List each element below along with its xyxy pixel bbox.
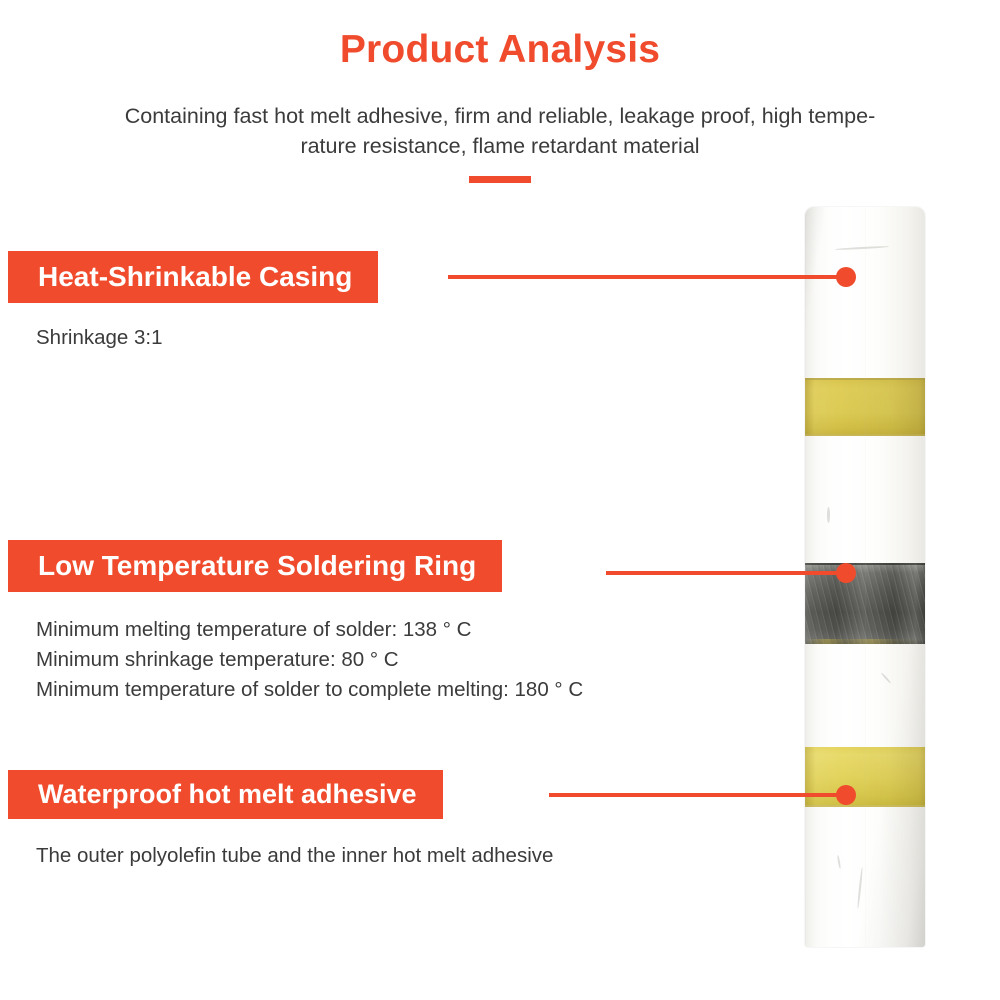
subtitle-line-1: Containing fast hot melt adhesive, firm … xyxy=(125,104,876,128)
tube-scratch xyxy=(857,867,863,909)
hot-melt-adhesive-band-bottom xyxy=(805,747,925,807)
heat-shrink-casing xyxy=(805,207,925,947)
subtitle-line-2: rature resistance, flame retardant mater… xyxy=(300,134,699,158)
callout-description-line: The outer polyolefin tube and the inner … xyxy=(36,841,553,871)
callout-description-2: Minimum melting temperature of solder: 1… xyxy=(36,615,583,705)
hot-melt-adhesive-band-top xyxy=(805,378,925,436)
callout-dot-2 xyxy=(836,563,856,583)
tube-scratch xyxy=(835,246,889,251)
callout-description-3: The outer polyolefin tube and the inner … xyxy=(36,841,553,871)
callout-dot-3 xyxy=(836,785,856,805)
callout-description-line: Minimum temperature of solder to complet… xyxy=(36,675,583,705)
callout-connector-line-1 xyxy=(448,275,846,279)
callout-connector-line-2 xyxy=(606,571,846,575)
callout-label-text: Low Temperature Soldering Ring xyxy=(38,550,476,582)
tube-scratch xyxy=(881,672,892,684)
callout-label-low-temperature-soldering-ring[interactable]: Low Temperature Soldering Ring xyxy=(8,540,502,592)
title-divider xyxy=(469,176,531,183)
page-title: Product Analysis xyxy=(0,28,1000,72)
tube-scratch xyxy=(837,855,841,869)
callout-description-1: Shrinkage 3:1 xyxy=(36,323,163,353)
tube-scratch xyxy=(827,507,830,523)
callout-connector-line-3 xyxy=(549,793,846,797)
infographic-canvas: Product Analysis Containing fast hot mel… xyxy=(0,0,1000,1000)
callout-description-line: Shrinkage 3:1 xyxy=(36,323,163,353)
product-image xyxy=(795,200,940,960)
callout-dot-1 xyxy=(836,267,856,287)
callout-label-text: Waterproof hot melt adhesive xyxy=(38,779,417,810)
callout-label-text: Heat-Shrinkable Casing xyxy=(38,261,352,293)
callout-description-line: Minimum melting temperature of solder: 1… xyxy=(36,615,583,645)
callout-description-line: Minimum shrinkage temperature: 80 ° C xyxy=(36,645,583,675)
callout-label-waterproof-hot-melt-adhesive[interactable]: Waterproof hot melt adhesive xyxy=(8,770,443,819)
page-subtitle: Containing fast hot melt adhesive, firm … xyxy=(120,101,880,161)
solder-ring xyxy=(805,563,925,644)
callout-label-heat-shrinkable-casing[interactable]: Heat-Shrinkable Casing xyxy=(8,251,378,303)
